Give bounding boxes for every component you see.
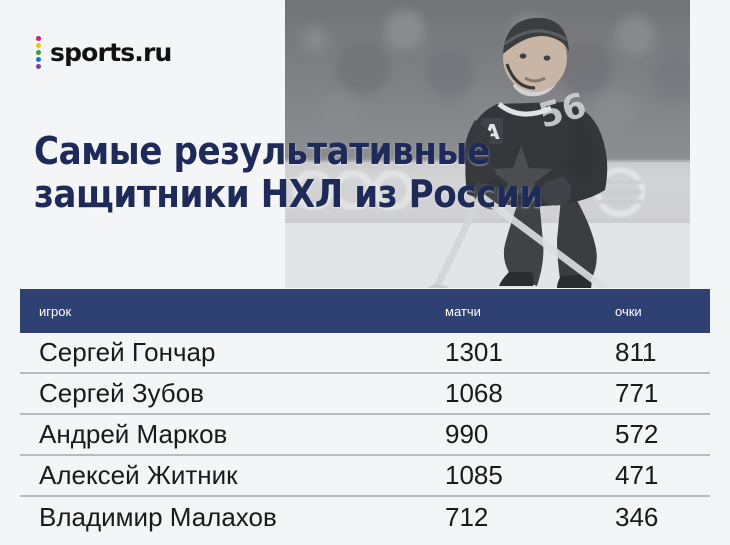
page-title-line-2: защитники НХЛ из России [34, 173, 592, 216]
dot-blue-icon [36, 57, 41, 62]
cell-points: 471 [615, 460, 710, 491]
column-header-player: игрок [20, 304, 445, 319]
table-row: Алексей Житник 1085 471 [20, 456, 710, 497]
cell-player: Сергей Гончар [20, 337, 445, 368]
table-header-row: игрок матчи очки [20, 289, 710, 333]
stats-table: игрок матчи очки Сергей Гончар 1301 811 … [20, 289, 710, 538]
page-title-line-1: Самые результативные [34, 130, 592, 173]
dot-pink-icon [36, 36, 41, 41]
cell-games: 712 [445, 502, 615, 533]
sports-ru-logo[interactable]: sports.ru [36, 36, 172, 69]
column-header-games: матчи [445, 304, 615, 319]
cell-points: 811 [615, 337, 710, 368]
cell-games: 1301 [445, 337, 615, 368]
logo-wordmark: sports.ru [50, 40, 172, 65]
cell-player: Алексей Житник [20, 460, 445, 491]
cell-player: Андрей Марков [20, 419, 445, 450]
dot-green-icon [36, 50, 41, 55]
cell-points: 572 [615, 419, 710, 450]
cell-games: 1068 [445, 378, 615, 409]
dot-yellow-icon [36, 43, 41, 48]
table-row: Сергей Гончар 1301 811 [20, 333, 710, 374]
dot-purple-icon [36, 64, 41, 69]
cell-games: 990 [445, 419, 615, 450]
column-header-points: очки [615, 304, 710, 319]
cell-player: Сергей Зубов [20, 378, 445, 409]
table-row: Андрей Марков 990 572 [20, 415, 710, 456]
cell-points: 346 [615, 502, 710, 533]
page-title: Самые результативные защитники НХЛ из Ро… [34, 130, 592, 216]
table-row: Владимир Малахов 712 346 [20, 497, 710, 538]
logo-dots-icon [36, 36, 41, 69]
cell-games: 1085 [445, 460, 615, 491]
cell-player: Владимир Малахов [20, 502, 445, 533]
table-row: Сергей Зубов 1068 771 [20, 374, 710, 415]
cell-points: 771 [615, 378, 710, 409]
